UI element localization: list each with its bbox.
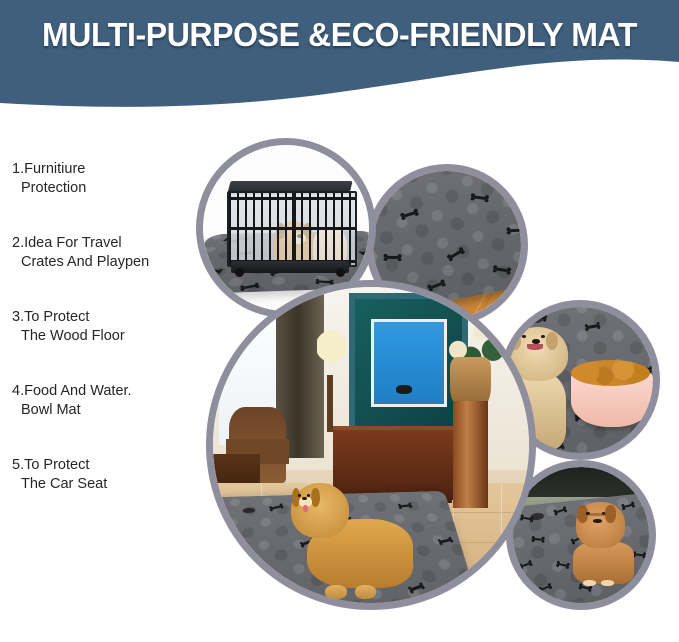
bone-glyph bbox=[539, 582, 553, 592]
bone-glyph bbox=[627, 307, 644, 319]
bone-glyph bbox=[204, 268, 224, 274]
bone-glyph bbox=[377, 175, 395, 184]
bone-glyph bbox=[438, 536, 455, 545]
bone-glyph bbox=[492, 265, 511, 275]
page-title: MULTI-PURPOSE &ECO-FRIENDLY MAT bbox=[10, 16, 669, 54]
bone-glyph bbox=[270, 503, 285, 511]
bone-glyph bbox=[400, 208, 419, 220]
bone-glyph bbox=[531, 536, 545, 543]
metal-crate bbox=[227, 181, 353, 273]
table-lamp bbox=[317, 331, 345, 382]
collage-photo-golden-retriever-on-mat-in-living-room bbox=[206, 280, 536, 610]
golden-retriever-lying bbox=[286, 483, 419, 597]
bone-glyph bbox=[446, 247, 465, 263]
bone-glyph bbox=[532, 311, 549, 322]
bone-glyph bbox=[554, 506, 568, 515]
bone-glyph bbox=[383, 254, 401, 262]
living-room-scene bbox=[213, 287, 529, 603]
bone-glyph bbox=[584, 321, 600, 330]
header-banner: MULTI-PURPOSE &ECO-FRIENDLY MAT bbox=[0, 0, 679, 112]
car-seat-scene bbox=[513, 467, 649, 603]
bone-glyph bbox=[470, 193, 488, 203]
bone-glyph bbox=[358, 249, 369, 255]
bone-glyph bbox=[222, 547, 239, 554]
bone-glyph bbox=[258, 591, 275, 600]
photo-collage bbox=[0, 112, 679, 642]
puppy-dogue-de-bordeaux bbox=[570, 502, 641, 581]
bone-glyph bbox=[213, 515, 221, 522]
infographic-page: MULTI-PURPOSE &ECO-FRIENDLY MAT 1.Furnit… bbox=[0, 0, 679, 642]
kibble-food bbox=[571, 360, 650, 386]
decorative-column bbox=[453, 401, 488, 508]
bone-glyph bbox=[506, 227, 521, 236]
bone-glyph bbox=[557, 561, 571, 569]
